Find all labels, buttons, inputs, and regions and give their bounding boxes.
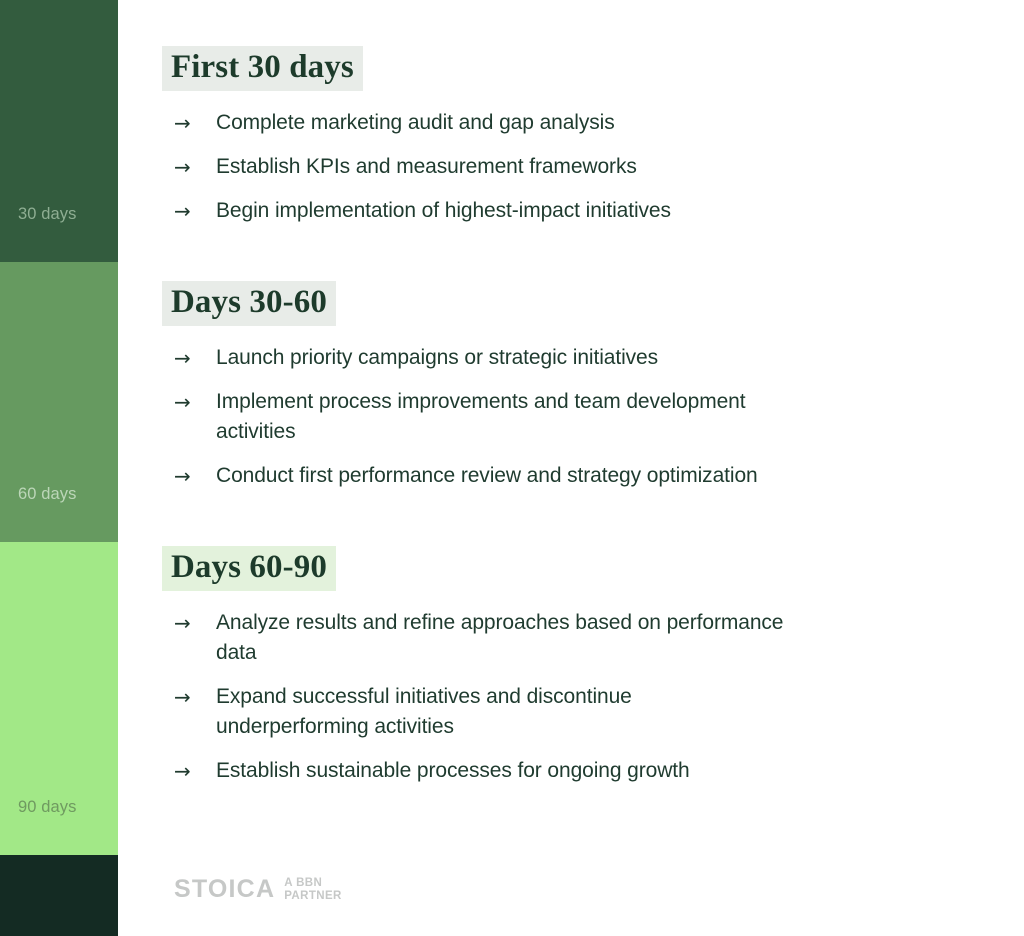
arrow-right-icon: → [174, 196, 216, 226]
bullet-text: Establish sustainable processes for ongo… [216, 756, 690, 786]
bullet-list-days-30-60: → Launch priority campaigns or strategic… [162, 343, 1024, 491]
list-item: → Begin implementation of highest-impact… [174, 196, 1024, 226]
brand-logo-tagline-line2: PARTNER [284, 890, 342, 902]
slide-root: 30 days 60 days 90 days First 30 days → … [0, 0, 1024, 936]
brand-logo-wordmark: STOICA [174, 877, 275, 902]
list-item: → Conduct first performance review and s… [174, 461, 1024, 491]
arrow-right-icon: → [174, 343, 216, 373]
timeline-band-60: 60 days [0, 262, 118, 542]
arrow-right-icon: → [174, 152, 216, 182]
section-heading-days-60-90: Days 60-90 [162, 546, 336, 591]
timeline-band-footer [0, 855, 118, 936]
timeline-band-90: 90 days [0, 542, 118, 855]
content-column: First 30 days → Complete marketing audit… [118, 0, 1024, 936]
bullet-text: Implement process improvements and team … [216, 387, 756, 447]
bullet-list-days-60-90: → Analyze results and refine approaches … [162, 608, 1024, 786]
bullet-text: Complete marketing audit and gap analysi… [216, 108, 615, 138]
timeline-band-label-90: 90 days [18, 798, 77, 817]
section-days-30-60: Days 30-60 → Launch priority campaigns o… [162, 281, 1024, 491]
brand-logo-tagline-line1: A BBN [284, 877, 322, 889]
section-heading-first-30-days: First 30 days [162, 46, 363, 91]
bullet-text: Begin implementation of highest-impact i… [216, 196, 671, 226]
arrow-right-icon: → [174, 682, 216, 712]
list-item: → Implement process improvements and tea… [174, 387, 1024, 447]
bullet-text: Launch priority campaigns or strategic i… [216, 343, 658, 373]
bullet-text: Conduct first performance review and str… [216, 461, 758, 491]
brand-logo-tagline: A BBN PARTNER [284, 876, 342, 902]
bullet-list-first-30-days: → Complete marketing audit and gap analy… [162, 108, 1024, 226]
list-item: → Expand successful initiatives and disc… [174, 682, 1024, 742]
timeline-rail: 30 days 60 days 90 days [0, 0, 118, 936]
arrow-right-icon: → [174, 387, 216, 417]
list-item: → Analyze results and refine approaches … [174, 608, 1024, 668]
brand-logo: STOICA A BBN PARTNER [174, 876, 342, 902]
bullet-text: Establish KPIs and measurement framework… [216, 152, 637, 182]
section-first-30-days: First 30 days → Complete marketing audit… [162, 46, 1024, 226]
list-item: → Launch priority campaigns or strategic… [174, 343, 1024, 373]
timeline-band-30: 30 days [0, 0, 118, 262]
bullet-text: Expand successful initiatives and discon… [216, 682, 761, 742]
arrow-right-icon: → [174, 608, 216, 638]
list-item: → Complete marketing audit and gap analy… [174, 108, 1024, 138]
arrow-right-icon: → [174, 108, 216, 138]
section-days-60-90: Days 60-90 → Analyze results and refine … [162, 546, 1024, 786]
bullet-text: Analyze results and refine approaches ba… [216, 608, 796, 668]
timeline-band-label-30: 30 days [18, 205, 77, 224]
arrow-right-icon: → [174, 461, 216, 491]
list-item: → Establish KPIs and measurement framewo… [174, 152, 1024, 182]
arrow-right-icon: → [174, 756, 216, 786]
list-item: → Establish sustainable processes for on… [174, 756, 1024, 786]
section-heading-days-30-60: Days 30-60 [162, 281, 336, 326]
timeline-band-label-60: 60 days [18, 485, 77, 504]
